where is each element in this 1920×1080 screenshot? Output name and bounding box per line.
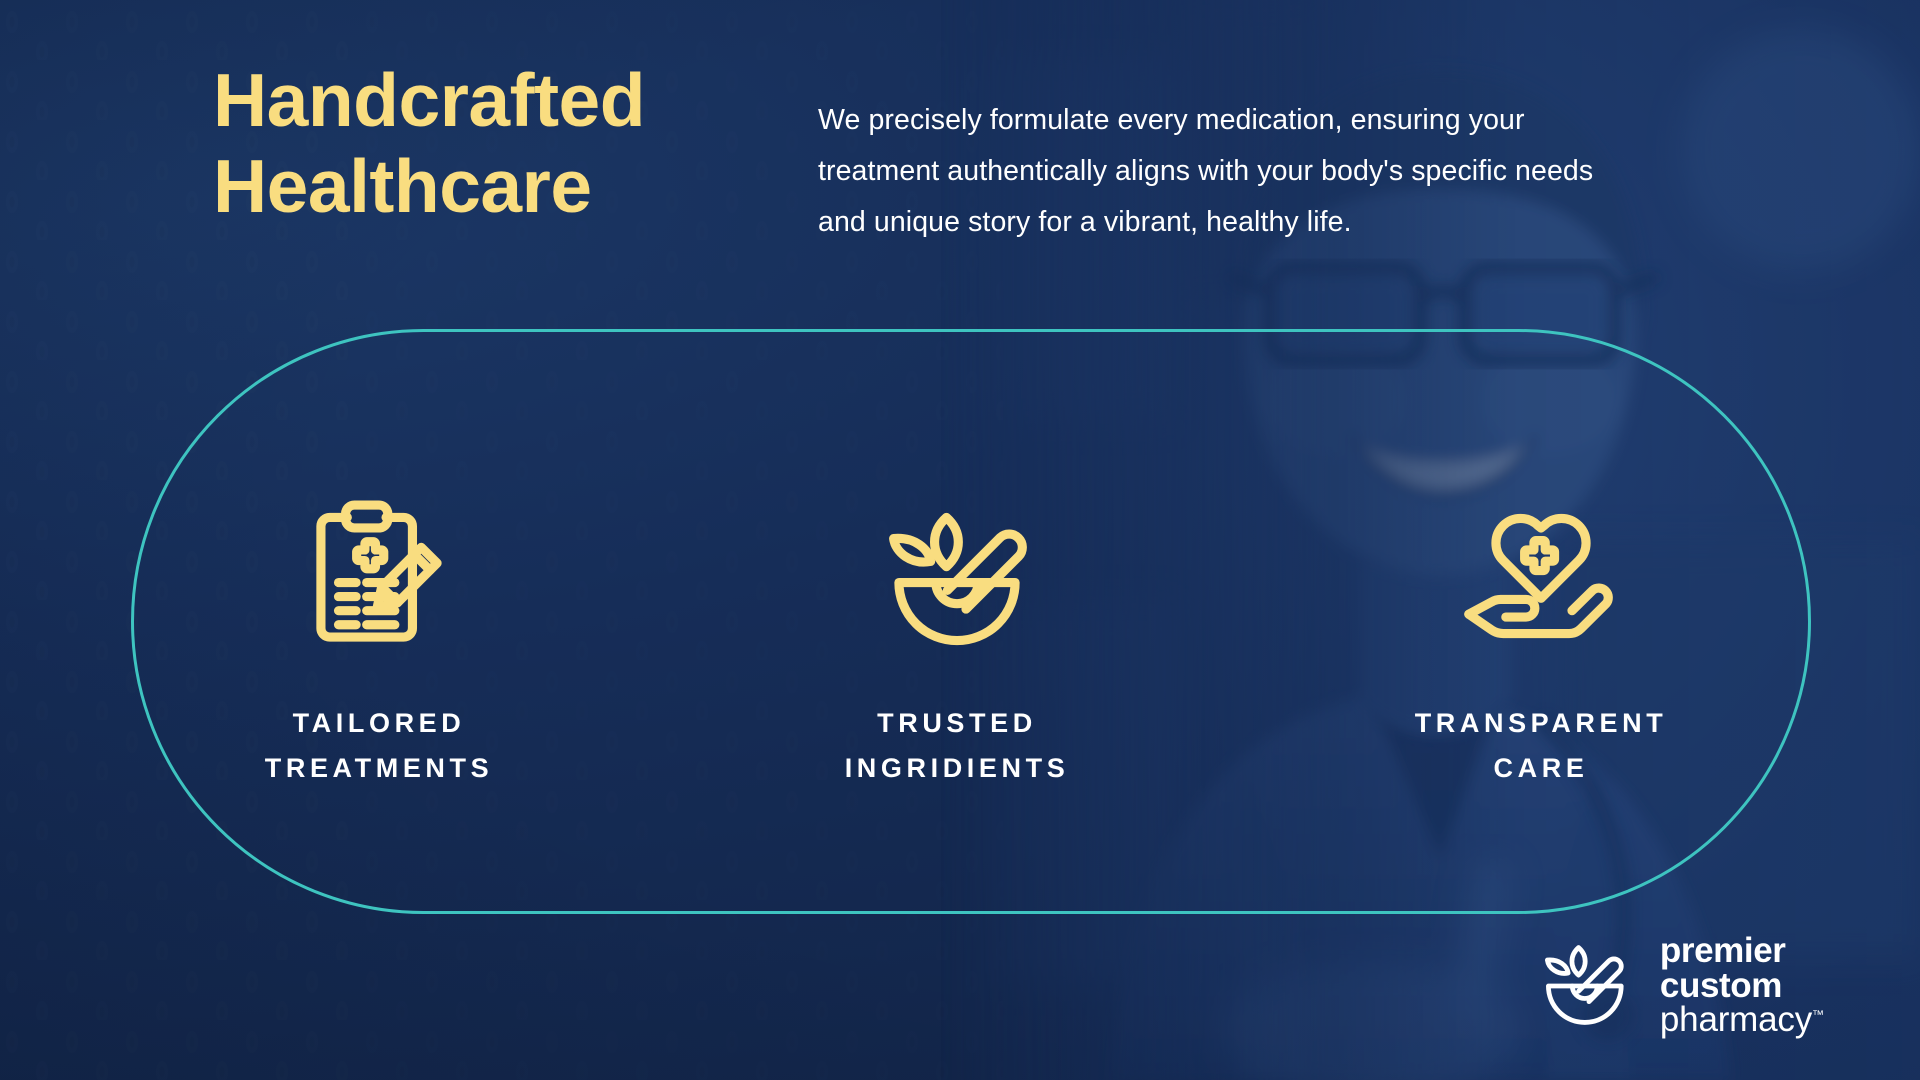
heart-in-hand-icon (1441, 479, 1641, 679)
feature-list: TAILORED TREATMENTS TRUSTED INGRIDIE (131, 329, 1811, 914)
feature-label: TRANSPARENT CARE (1415, 701, 1668, 791)
brand-logo[interactable]: premier custom pharmacy™ (1538, 931, 1824, 1038)
slide-canvas: Handcrafted Healthcare We precisely form… (0, 0, 1920, 1080)
page-title-line-1: Handcrafted (213, 58, 833, 144)
trademark-symbol: ™ (1812, 1008, 1824, 1022)
brand-wordmark-line-1: premier (1660, 934, 1824, 969)
feature-label: TAILORED TREATMENTS (265, 701, 494, 791)
brand-wordmark-line-2: custom (1660, 969, 1824, 1004)
page-title: Handcrafted Healthcare (213, 58, 833, 229)
clipboard-pencil-icon (279, 479, 479, 679)
brand-wordmark-pharmacy: pharmacy (1660, 1000, 1812, 1039)
brand-wordmark-line-3: pharmacy™ (1660, 1003, 1824, 1038)
feature-item-transparent-care[interactable]: TRANSPARENT CARE (1261, 453, 1821, 791)
feature-item-trusted-ingridients[interactable]: TRUSTED INGRIDIENTS (677, 453, 1237, 791)
mortar-pestle-leaves-logo-icon (1538, 937, 1642, 1033)
page-title-line-2: Healthcare (213, 144, 833, 230)
feature-label: TRUSTED INGRIDIENTS (845, 701, 1070, 791)
brand-wordmark: premier custom pharmacy™ (1660, 931, 1824, 1038)
intro-paragraph: We precisely formulate every medication,… (818, 95, 1648, 248)
mortar-pestle-leaves-icon (857, 479, 1057, 679)
feature-item-tailored-treatments[interactable]: TAILORED TREATMENTS (99, 453, 659, 791)
